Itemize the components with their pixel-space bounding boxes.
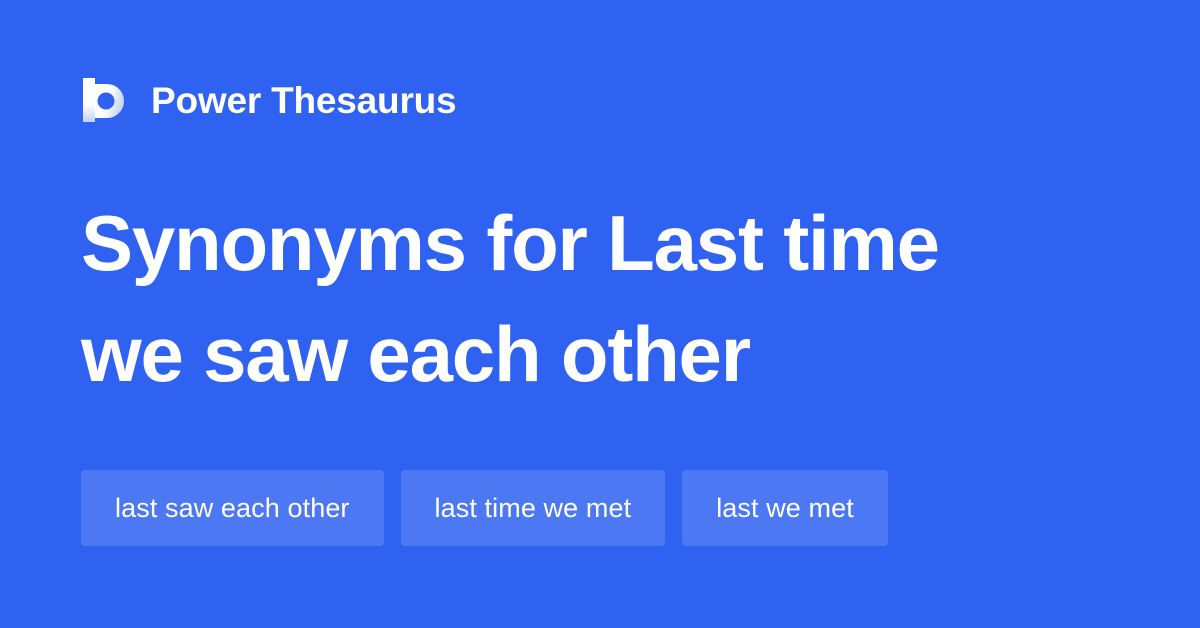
synonym-chip[interactable]: last saw each other xyxy=(81,470,384,546)
power-thesaurus-b-logo-icon xyxy=(81,76,129,124)
synonym-chip[interactable]: last we met xyxy=(682,470,888,546)
synonym-chip-list: last saw each other last time we met las… xyxy=(81,470,888,546)
synonym-chip[interactable]: last time we met xyxy=(401,470,666,546)
brand-lockup[interactable]: power thesaurus xyxy=(81,72,456,128)
brand-name: power thesaurus xyxy=(151,82,456,119)
page-title: Synonyms for Last time we saw each other xyxy=(81,188,1041,410)
share-card: power thesaurus Synonyms for Last time w… xyxy=(0,0,1200,628)
